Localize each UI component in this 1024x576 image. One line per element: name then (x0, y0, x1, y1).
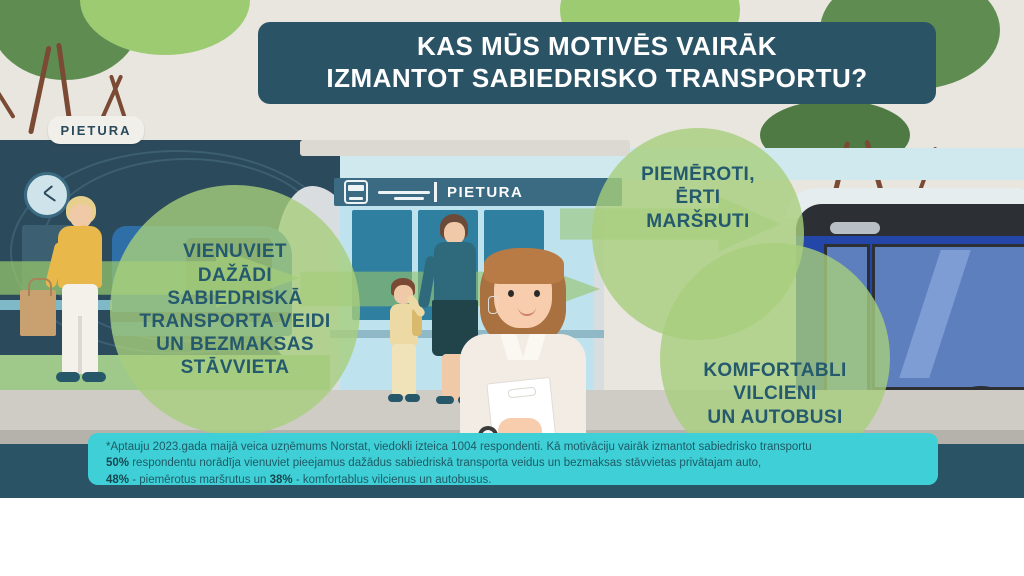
footnote-line-3-mid: - piemērotus maršrutus un (129, 474, 270, 486)
board-line-1 (378, 191, 430, 194)
board-line-2 (394, 197, 424, 200)
pietura-tag-label: PIETURA (60, 123, 131, 138)
infographic-poster: PIETURA PIETURA (0, 0, 1024, 576)
main-woman-hair-front (484, 248, 564, 284)
footer-bar: Līdzfinansē Eiropas Savienība 2027 Nacio… (0, 498, 1024, 576)
stop-board-label: PIETURA (447, 184, 523, 201)
woman-phone-leg-split (78, 316, 82, 374)
bubble-comfort-text: KOMFORTABLI VILCIENI UN AUTOBUSI (703, 359, 846, 429)
shelter-roof (300, 140, 630, 156)
footnote-stat-50: 50% (106, 457, 129, 469)
woman-phone-shoe-right (82, 372, 106, 382)
main-woman-eye-left (508, 290, 514, 297)
footnote-line-2: respondentu norādīja vienuviet pieejamus… (129, 457, 761, 469)
child-legs (392, 344, 416, 396)
footnote-stat-38: 38% (270, 474, 293, 486)
shopping-bag-handle (28, 278, 52, 296)
figure-main-woman (432, 240, 612, 455)
bubble-routes-text: PIEMĒROTI, ĒRTI MARŠRUTI (641, 163, 755, 233)
footnote-line-1: *Aptauju 2023.gada maijā veica uzņēmums … (106, 441, 812, 453)
stop-board: PIETURA (334, 178, 622, 206)
woman-phone-head (70, 204, 92, 228)
poster-title-line-2: IZMANTOT SABIEDRISKO TRANSPORTU? (326, 63, 867, 95)
bus-icon (344, 180, 368, 204)
child-shoe-right (405, 394, 420, 402)
main-woman-earring (488, 296, 498, 314)
bubble-multimodal-text: VIENUVIET DAŽĀDI SABIEDRISKĀ TRANSPORTA … (139, 240, 330, 379)
child-shoe-left (388, 394, 403, 402)
poster-title-bar: KAS MŪS MOTIVĒS VAIRĀK IZMANTOT SABIEDRI… (258, 22, 936, 104)
poster-title-line-1: KAS MŪS MOTIVĒS VAIRĀK (417, 31, 777, 63)
shopping-bag (20, 290, 56, 336)
pietura-tag-sign: PIETURA (48, 116, 144, 144)
bubble-multimodal: VIENUVIET DAŽĀDI SABIEDRISKĀ TRANSPORTA … (110, 185, 360, 435)
survey-footnote: *Aptauju 2023.gada maijā veica uzņēmums … (88, 433, 938, 485)
main-woman-eye-right (534, 290, 540, 297)
footnote-stat-48: 48% (106, 474, 129, 486)
footnote-line-3-end: - komfortablus vilcienus un autobusus. (293, 474, 492, 486)
bus-roof-lamp (830, 222, 880, 234)
board-divider (434, 182, 437, 202)
woman-phone-shoe-left (56, 372, 80, 382)
